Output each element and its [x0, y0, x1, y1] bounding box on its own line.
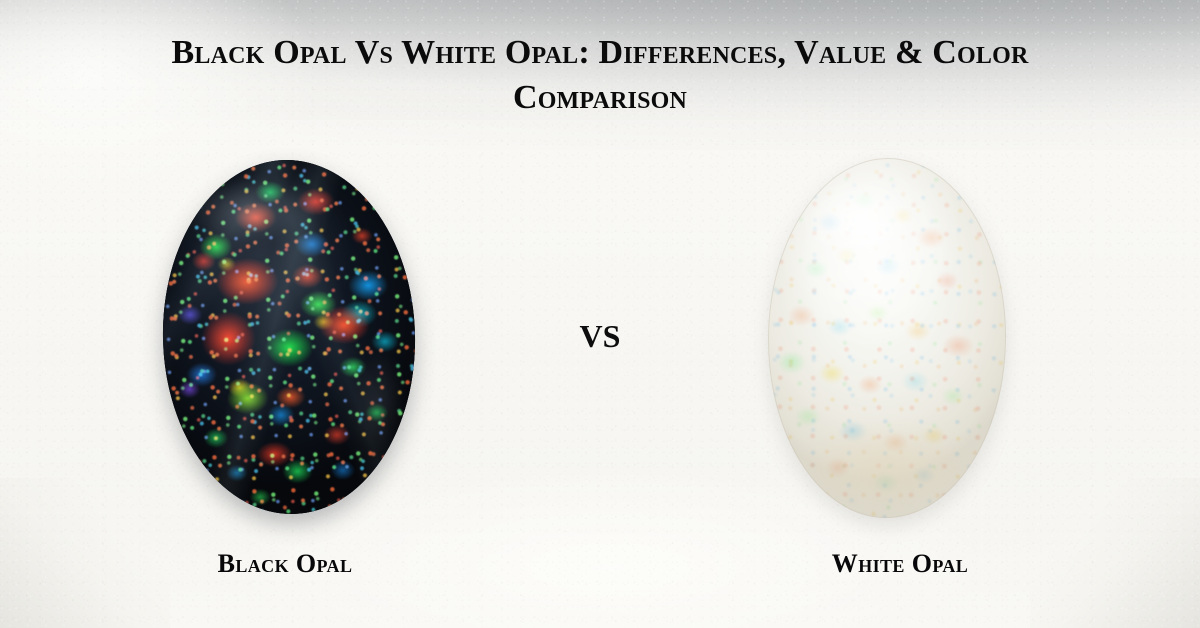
black-opal-image	[158, 157, 419, 517]
page-title-line-2: Comparison	[0, 75, 1200, 120]
comparison-graphic: Black Opal Vs White Opal: Differences, V…	[0, 0, 1200, 628]
black-opal-caption: Black Opal	[85, 548, 485, 580]
vs-separator: VS	[565, 318, 635, 354]
page-title-line-1: Black Opal Vs White Opal: Differences, V…	[0, 30, 1200, 75]
white-opal-caption: White Opal	[700, 548, 1100, 580]
white-opal-image	[766, 157, 1007, 519]
page-title: Black Opal Vs White Opal: Differences, V…	[0, 30, 1200, 120]
